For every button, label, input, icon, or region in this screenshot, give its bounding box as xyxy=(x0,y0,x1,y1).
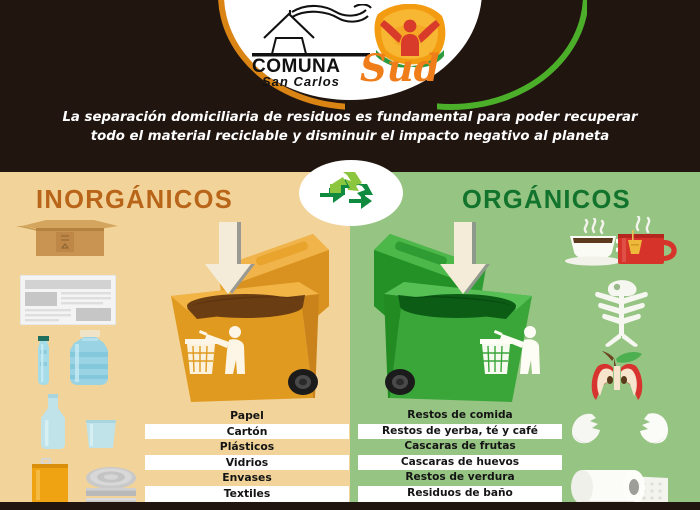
bin-wheel-icon xyxy=(385,369,415,395)
organic-section-title: ORGÁNICOS xyxy=(462,186,631,215)
list-item: Envases xyxy=(145,470,349,486)
cardboard-box-icon xyxy=(16,218,124,264)
fish-bones-icon xyxy=(584,278,660,352)
power-lines-icon xyxy=(264,4,371,38)
list-item: Cartón xyxy=(145,424,349,440)
glass-bottle-and-cup-icon xyxy=(28,394,126,454)
list-item: Restos de verdura xyxy=(358,470,562,486)
infographic-page: COMUNA San Carlos Sud La separación domi… xyxy=(0,0,700,510)
header-subtitle: La separación domiciliaria de residuos e… xyxy=(50,108,650,147)
organic-items-list: Restos de comida Restos de yerba, té y c… xyxy=(358,408,562,502)
list-item: Restos de comida xyxy=(358,408,562,424)
header-banner: COMUNA San Carlos Sud La separación domi… xyxy=(0,0,700,172)
inorganic-items-list: Papel Cartón Plásticos Vidrios Envases T… xyxy=(145,408,349,502)
plastic-bottles-icon xyxy=(24,330,128,392)
inorganic-section-title: INORGÁNICOS xyxy=(36,186,233,215)
newspaper-icon xyxy=(20,275,116,329)
tower-base-icon xyxy=(272,38,306,54)
comuna-san-carlos-sud-logo: COMUNA San Carlos Sud xyxy=(250,4,450,92)
inorganic-waste-examples xyxy=(6,218,146,498)
list-item: Papel xyxy=(145,408,349,424)
organic-waste-examples xyxy=(556,218,696,498)
apple-core-icon xyxy=(580,350,660,408)
down-arrow-icon-inorganic xyxy=(205,222,263,304)
down-arrow-icon-organic xyxy=(440,222,498,304)
list-item: Plásticos xyxy=(145,439,349,455)
tea-mug-icon xyxy=(608,216,688,272)
logo-curve-green xyxy=(437,0,587,110)
footer-strip xyxy=(0,502,700,510)
list-item: Residuos de baño xyxy=(358,486,562,502)
recycle-icon xyxy=(315,168,387,214)
main-content: INORGÁNICOS ORGÁNICOS xyxy=(0,172,700,502)
bin-wheel-icon xyxy=(288,369,318,395)
list-item: Textiles xyxy=(145,486,349,502)
broken-eggshells-icon xyxy=(568,408,672,456)
list-item: Restos de yerba, té y café xyxy=(358,424,562,440)
list-item: Cascaras de frutas xyxy=(358,439,562,455)
list-item: Vidrios xyxy=(145,455,349,471)
list-item: Cascaras de huevos xyxy=(358,455,562,471)
logo-brand-sub: San Carlos xyxy=(262,74,340,89)
logo-brand-accent: Sud xyxy=(360,46,440,90)
recycle-badge xyxy=(299,160,403,226)
